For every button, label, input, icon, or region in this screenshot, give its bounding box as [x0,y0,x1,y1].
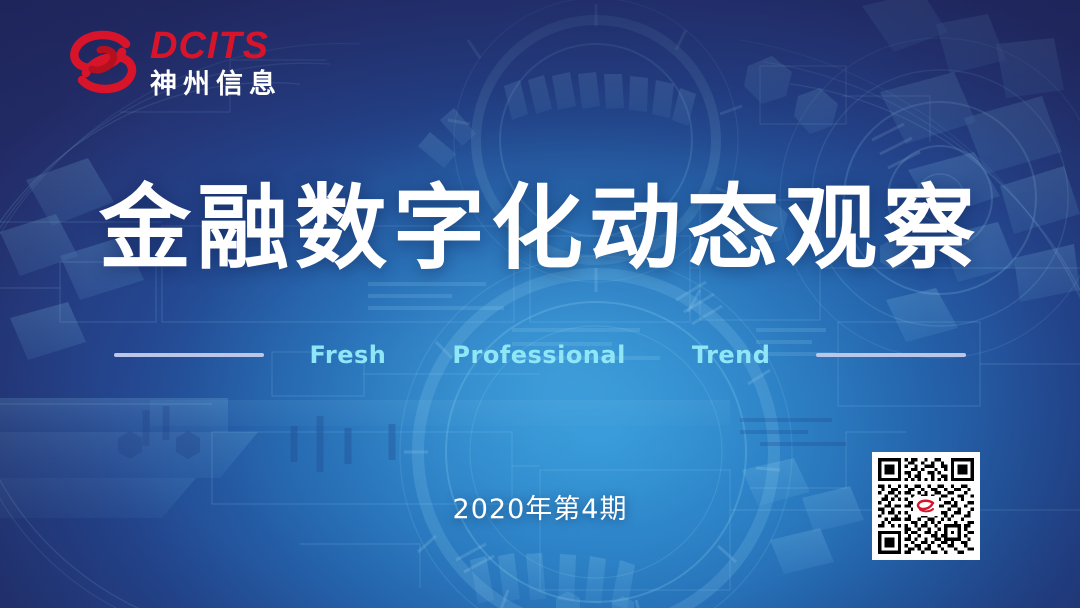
brand-logo: DCITS 神州信息 [66,27,282,98]
qr-center-logo [913,496,939,516]
poster-canvas: DCITS 神州信息 金融数字化动态观察 Fresh Professional … [0,0,1080,608]
dcits-swirl-icon-small [916,499,936,513]
qr-code[interactable] [872,452,980,560]
logo-chinese-name: 神州信息 [150,71,282,98]
tagline-row: Fresh Professional Trend [0,339,1080,371]
poster-title: 金融数字化动态观察 [0,181,1080,278]
tagline-rule-right [816,353,966,357]
dcits-swirl-icon [66,28,140,98]
tagline-word-fresh: Fresh [310,341,387,369]
logo-text-block: DCITS 神州信息 [150,27,282,98]
tagline-rule-left [114,353,264,357]
tagline-word-trend: Trend [692,341,771,369]
logo-english-name: DCITS [150,27,282,65]
tagline-word-professional: Professional [452,341,625,369]
